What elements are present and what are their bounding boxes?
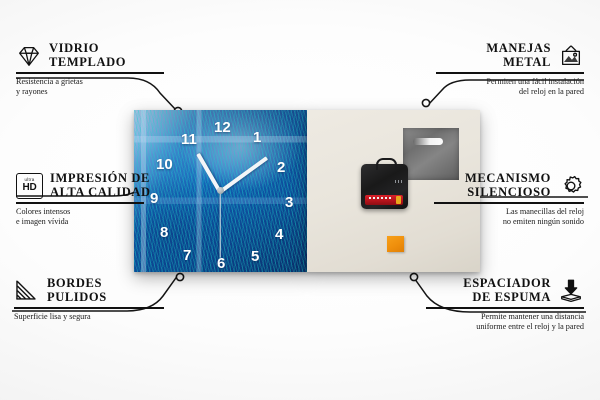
feature-manejas-metal: MANEJAS METAL Permiten una fácil instala…: [436, 42, 584, 98]
feature-head: VIDRIO TEMPLADO: [16, 42, 164, 69]
feature-head: MANEJAS METAL: [436, 42, 584, 69]
feature-title: MECANISMO SILENCIOSO: [434, 172, 551, 199]
feature-title: MANEJAS METAL: [436, 42, 551, 69]
polished-edge-icon: [14, 278, 40, 304]
clock-numeral-2: 2: [277, 160, 285, 175]
clock-second-hand: [219, 192, 220, 258]
feature-title: VIDRIO TEMPLADO: [49, 42, 126, 69]
foam-spacer-icon: [558, 278, 584, 304]
feature-head: ESPACIADOR DE ESPUMA: [426, 277, 584, 304]
feature-subtitle: Superficie lisa y segura: [14, 312, 164, 323]
feature-rule: [434, 202, 584, 204]
movement-hanging-loop: [376, 158, 397, 170]
feature-title: BORDES PULIDOS: [47, 277, 107, 304]
feature-subtitle: Colores intensos e imagen vívida: [16, 207, 156, 228]
feature-subtitle: Las manecillas del reloj no emiten ningú…: [434, 207, 584, 228]
feature-rule: [14, 307, 164, 309]
clock-movement-box: [361, 164, 408, 209]
feature-bordes-pulidos: BORDES PULIDOS Superficie lisa y segura: [14, 277, 164, 322]
clock-numeral-10: 10: [156, 157, 173, 172]
feature-vidrio-templado: VIDRIO TEMPLADO Resistencia a grietas y …: [16, 42, 164, 98]
clock-center-cap: [217, 187, 224, 194]
leader-dot-bordes: [176, 273, 183, 280]
infographic-canvas: 12 1 2 3 4 5 6 7 8 9 10 11: [0, 0, 600, 400]
clock-numeral-8: 8: [160, 225, 168, 240]
battery-label: [369, 197, 393, 199]
feature-subtitle: Permite mantener una distancia uniforme …: [426, 312, 584, 333]
clock-numeral-7: 7: [183, 248, 191, 263]
feature-subtitle: Resistencia a grietas y rayones: [16, 77, 164, 98]
battery: [365, 195, 403, 205]
hanger-slot: [413, 138, 443, 145]
battery-tip: [396, 196, 401, 204]
feature-head: MECANISMO SILENCIOSO: [434, 172, 584, 199]
leader-dot-espaciador: [410, 273, 417, 280]
feature-head: ultra HD IMPRESIÓN DE ALTA CALIDAD: [16, 172, 156, 199]
clock-minute-hand: [219, 156, 268, 193]
feature-rule: [16, 202, 144, 204]
leader-dot-manejas: [422, 99, 429, 106]
feature-head: BORDES PULIDOS: [14, 277, 164, 304]
feature-rule: [16, 72, 164, 74]
hanging-frame-icon: [558, 43, 584, 69]
feature-mecanismo-silencioso: MECANISMO SILENCIOSO Las manecillas del …: [434, 172, 584, 228]
ultra-hd-icon-large-text: HD: [22, 183, 36, 193]
clock-numeral-6: 6: [217, 256, 225, 271]
clock-numeral-3: 3: [285, 195, 293, 210]
feature-title: IMPRESIÓN DE ALTA CALIDAD: [50, 172, 151, 199]
clock-numeral-12: 12: [214, 120, 231, 135]
clock-numeral-1: 1: [253, 130, 261, 145]
diamond-icon: [16, 43, 42, 69]
movement-detail: [395, 180, 404, 183]
clock-front-photo: 12 1 2 3 4 5 6 7 8 9 10 11: [134, 110, 307, 272]
feature-rule: [426, 307, 584, 309]
ultra-hd-icon: ultra HD: [16, 173, 43, 199]
feature-rule: [436, 72, 584, 74]
clock-numeral-11: 11: [181, 132, 197, 147]
feature-title: ESPACIADOR DE ESPUMA: [426, 277, 551, 304]
feature-subtitle: Permiten una fácil instalación del reloj…: [436, 77, 584, 98]
feature-espaciador-espuma: ESPACIADOR DE ESPUMA Permite mantener un…: [426, 277, 584, 333]
clock-numeral-4: 4: [275, 227, 283, 242]
feature-impresion-alta-calidad: ultra HD IMPRESIÓN DE ALTA CALIDAD Color…: [16, 172, 156, 228]
gear-icon: [558, 173, 584, 199]
foam-spacer-part: [387, 236, 404, 252]
clock-numeral-5: 5: [251, 249, 259, 264]
